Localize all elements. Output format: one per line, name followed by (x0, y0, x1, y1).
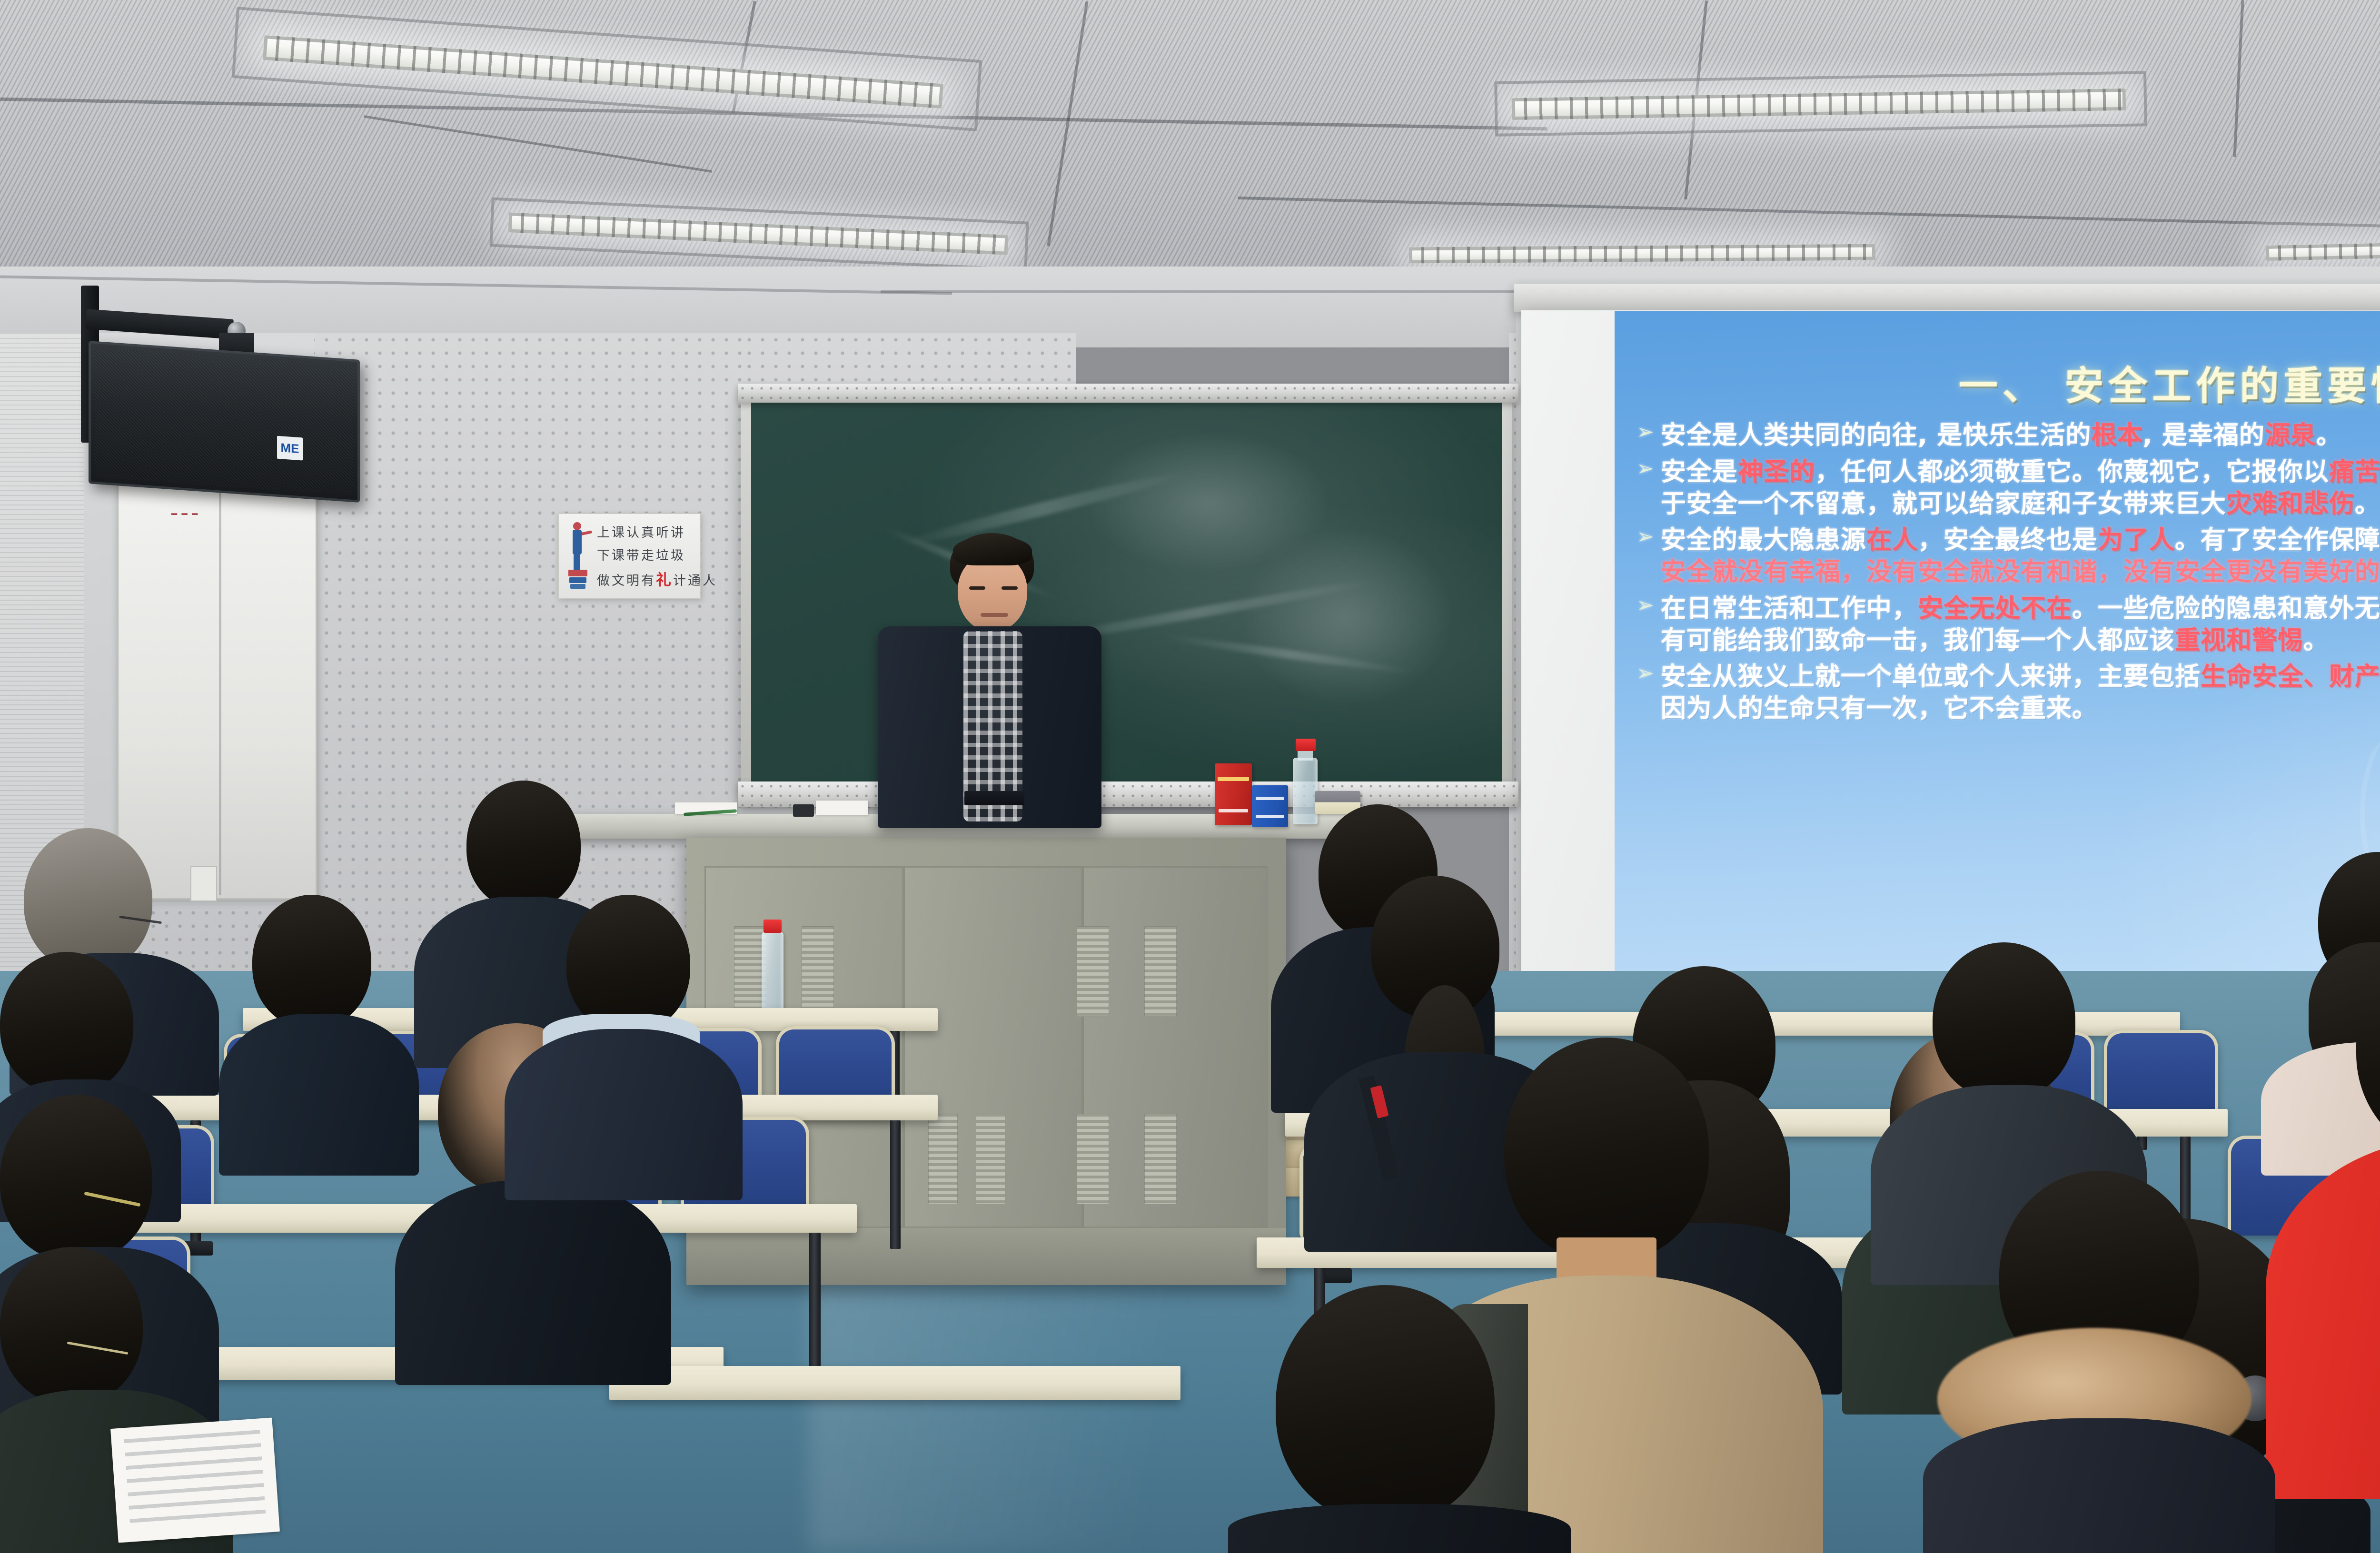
audience-torso (395, 1180, 671, 1385)
bullet-marker-icon: ➢ (1636, 593, 1654, 617)
podium-vent-louver (1077, 1114, 1109, 1204)
ceiling-light-troffer (1409, 244, 1875, 264)
classroom-scene: EPSON ━ ━ ━ ME (0, 0, 2380, 1553)
ac-brand-label: ━ ━ ━ (171, 508, 198, 520)
presenter-eye-right (1002, 586, 1018, 590)
audience-bun-bottom-left (1219, 1285, 1580, 1553)
audience-head (2356, 933, 2380, 1157)
figure-book-stack (570, 584, 585, 589)
bullet-4-text: 在日常生活和工作中，安全无处不在。一些危险的隐患和意外无时无刻地潜伏在我们身边，… (1661, 593, 2380, 657)
presenter-hair-fringe (953, 536, 1032, 565)
wall-speaker: ME (89, 341, 360, 503)
figure-leg (574, 554, 580, 571)
sign-person-figure-icon (565, 520, 592, 592)
podium-vent-louver (1144, 1114, 1177, 1204)
bullet-1-text: 安全是人类共同的向往, 是快乐生活的根本, 是幸福的源泉。 (1661, 420, 2342, 452)
audience-torso (505, 1029, 743, 1200)
audience-head (1504, 1038, 1709, 1261)
audience-head (0, 1247, 143, 1404)
bullet-5-text: 安全从狭义上就一个单位或个人来讲，主要包括生命安全、财产安全。这其中生命是最重要… (1661, 661, 2380, 725)
presenter-teacher (866, 533, 1114, 828)
audience-head (1933, 942, 2075, 1099)
figure-head (573, 522, 581, 530)
chalk-box-stripe (1219, 809, 1248, 812)
sign-line-1: 上课认真听讲 (597, 522, 717, 541)
audience-head (466, 781, 581, 909)
slide-bullet-5: ➢ 安全从狭义上就一个单位或个人来讲，主要包括生命安全、财产安全。这其中生命是最… (1636, 661, 2380, 725)
audience-head (0, 952, 133, 1095)
audience-torso (1923, 1418, 2275, 1553)
slide-title: 一、 安全工作的重要性 (1615, 354, 2380, 411)
presenter-belt (964, 791, 1024, 805)
light-louver (1409, 244, 1875, 264)
bullet-marker-icon: ➢ (1636, 456, 1654, 481)
podium-vent-louver (1077, 926, 1109, 1017)
blackboard-trim-perforation (738, 384, 1518, 403)
classroom-etiquette-sign: 上课认真听讲 下课带走垃圾 做文明有礼计通人 (558, 513, 701, 599)
audience-head (252, 895, 371, 1028)
figure-body (573, 530, 582, 554)
lecture-desk-row-front (609, 1366, 1180, 1400)
speaker-brand-logo: ME (277, 436, 303, 461)
chalk-smudge (1237, 526, 1456, 707)
slide-bullet-2: ➢ 安全是神圣的，任何人都必须敬重它。你蔑视它，它报你以痛苦；你重视它，它赐你以… (1636, 456, 2380, 520)
audience-fur-hood-right (1909, 1171, 2280, 1552)
podium-vent-louver (928, 1114, 958, 1204)
podium-small-remote (793, 804, 814, 817)
desk-leg (890, 1120, 901, 1249)
document-rows (124, 1430, 266, 1530)
presenter-mouth (981, 613, 1008, 617)
bullet-2-text: 安全是神圣的，任何人都必须敬重它。你蔑视它，它报你以痛苦；你重视它，它赐你以甘甜… (1661, 456, 2380, 520)
slide-bullet-1: ➢ 安全是人类共同的向往, 是快乐生活的根本, 是幸福的源泉。 (1636, 420, 2380, 452)
chalk-box-stripe (1256, 797, 1285, 800)
sign-line-3-highlight: 礼 (656, 571, 673, 589)
sign-line-3: 做文明有礼计通人 (597, 568, 717, 590)
podium-plinth (686, 1228, 1286, 1285)
presenter-face (958, 554, 1027, 632)
sign-line-2: 下课带走垃圾 (597, 545, 717, 564)
bottle-cap (1296, 739, 1316, 751)
podium-vent-louver (976, 1114, 1005, 1204)
troffer-frame (1494, 71, 2147, 137)
audience-head (1276, 1285, 1495, 1523)
desk-document (110, 1417, 280, 1543)
screen-housing-roller (1514, 284, 2380, 312)
podium-notepad (816, 801, 868, 815)
bullet-3-text: 安全的最大隐患源在人，安全最终也是为了人。有了安全作保障，才可以追求更好地生活。… (1661, 524, 2380, 588)
audience-head (24, 828, 152, 971)
chalk-box-stripe (1218, 777, 1249, 781)
ac-panel-seam (219, 485, 221, 895)
audience-torso (2266, 1138, 2380, 1499)
figure-book-stack (568, 570, 587, 576)
wall-seam (881, 290, 1547, 293)
slide-bullet-4: ➢ 在日常生活和工作中，安全无处不在。一些危险的隐患和意外无时无刻地潜伏在我们身… (1636, 593, 2380, 657)
audience-suit-left-center (514, 895, 733, 1190)
sign-line-3-before: 做文明有 (597, 574, 656, 588)
bullet-marker-icon: ➢ (1636, 420, 1654, 444)
podium-vent-louver (802, 926, 834, 1017)
podium-vent-louver (1144, 926, 1177, 1017)
figure-book-stack (569, 577, 586, 583)
bullet-marker-icon: ➢ (1636, 524, 1654, 549)
sign-text-block: 上课认真听讲 下课带走垃圾 做文明有礼计通人 (597, 522, 717, 590)
slide-bullet-3: ➢ 安全的最大隐患源在人，安全最终也是为了人。有了安全作保障，才可以追求更好地生… (1636, 524, 2380, 588)
audience-head (0, 1095, 152, 1261)
speaker-grille (95, 348, 353, 495)
audience-ponytail-left (224, 895, 424, 1180)
audience-red-jacket-right (2266, 933, 2380, 1504)
presenter-eye-left (969, 586, 985, 590)
slide-bullet-list: ➢ 安全是人类共同的向往, 是快乐生活的根本, 是幸福的源泉。 ➢ 安全是神圣的… (1636, 420, 2380, 730)
audience-torso (1228, 1504, 1571, 1553)
blackboard-top-trim (738, 384, 1518, 403)
projected-slide: 一、 安全工作的重要性 ➢ 安全是人类共同的向往, 是快乐生活的根本, 是幸福的… (1615, 311, 2380, 974)
audience-head (566, 895, 690, 1033)
water-bottle-desk (762, 932, 783, 1012)
audience-torso (219, 1014, 419, 1176)
blackboard-surface (751, 403, 1502, 787)
bullet-marker-icon: ➢ (1636, 661, 1654, 685)
sign-line-3-after: 计通人 (673, 574, 717, 588)
red-chalk-box (1215, 763, 1252, 825)
bottle-cap (764, 920, 782, 933)
